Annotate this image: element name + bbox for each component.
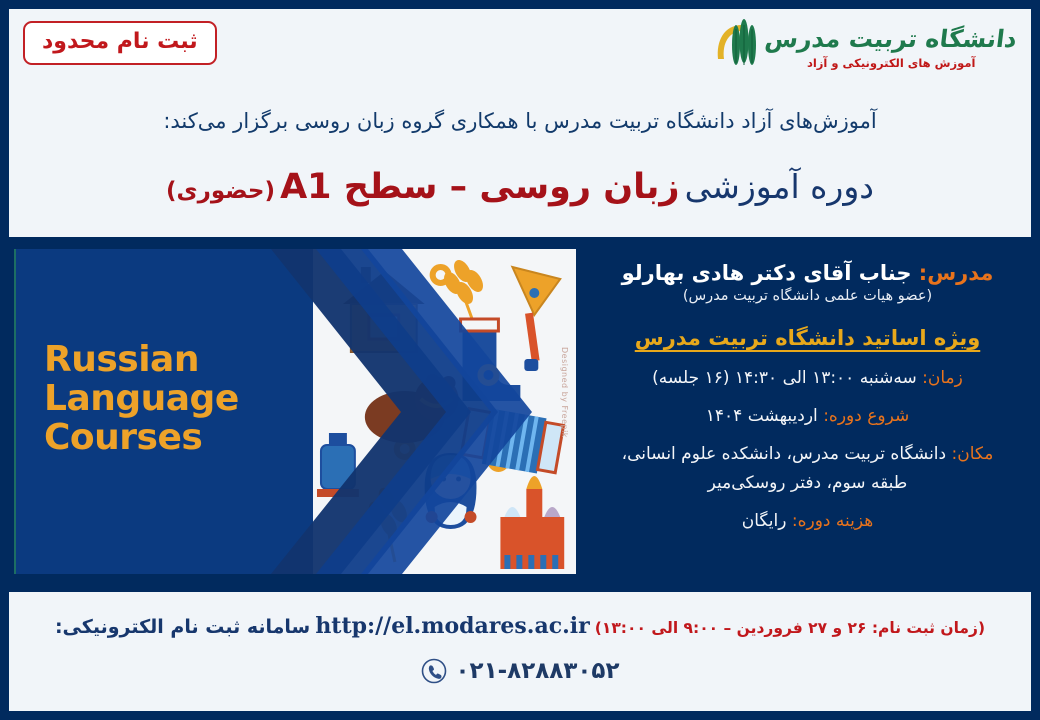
instructor-label: مدرس: (919, 261, 994, 285)
phone-number: ۰۲۱-۸۲۸۸۳۰۵۲ (456, 658, 620, 684)
matryoshka-icon (424, 453, 476, 529)
wheat-emblem-icon (712, 19, 758, 77)
artwork-title-line1: Russian (44, 341, 576, 380)
content-band: Designed by Freepik Russian Language Cou… (9, 237, 1031, 592)
detail-row: زمان: سه‌شنبه ۱۳:۰۰ الی ۱۴:۳۰ (۱۶ جلسه) (584, 368, 1031, 388)
detail-value: سه‌شنبه ۱۳:۰۰ الی ۱۴:۳۰ (۱۶ جلسه) (652, 368, 917, 388)
registration-time-note: (زمان ثبت نام: ۲۶ و ۲۷ فروردین – ۹:۰۰ ال… (595, 619, 985, 637)
poster-header: ثبت نام محدود دانشگاه تربیت مدرس آموزش ه… (9, 9, 1031, 237)
detail-value: رایگان (742, 511, 787, 531)
detail-value: دانشگاه تربیت مدرس، دانشکده علوم انسانی، (622, 444, 947, 464)
detail-row: طبقه سوم، دفتر روسکی‌میر (584, 473, 1031, 493)
page-title: دوره آموزشی زبان روسی – سطح A1 (حضوری) (9, 167, 1031, 207)
artwork-title-line2: Language (44, 380, 576, 419)
instructor-line: مدرس: جناب آقای دکتر هادی بهارلو (584, 261, 1031, 285)
phone-handset-icon (421, 658, 447, 684)
artwork-title-line3: Courses (44, 419, 576, 458)
logo-subtitle: آموزش های الکترونیکی و آزاد (765, 56, 1017, 70)
artwork-title: Russian Language Courses (16, 341, 576, 458)
poster-footer: (زمان ثبت نام: ۲۶ و ۲۷ فروردین – ۹:۰۰ ال… (9, 592, 1031, 702)
detail-row: شروع دوره: اردیبهشت ۱۴۰۴ (584, 406, 1031, 426)
title-main: زبان روسی – سطح A1 (280, 167, 679, 207)
instructor-affiliation: (عضو هیات علمی دانشگاه تربیت مدرس) (584, 288, 1031, 304)
registration-system-label: سامانه ثبت نام الکترونیکی: (55, 616, 310, 638)
detail-value: اردیبهشت ۱۴۰۴ (706, 406, 818, 426)
detail-row: هزینه دوره: رایگان (584, 511, 1031, 531)
detail-label: مکان: (952, 444, 994, 464)
special-audience-note: ویژه اساتید دانشگاه تربیت مدرس (584, 326, 1031, 350)
limited-registration-badge: ثبت نام محدود (23, 21, 217, 65)
detail-label: هزینه دوره: (792, 511, 873, 531)
title-prefix: دوره آموزشی (685, 167, 874, 206)
university-logo: دانشگاه تربیت مدرس آموزش های الکترونیکی … (712, 19, 1017, 77)
logo-text-block: دانشگاه تربیت مدرس آموزش های الکترونیکی … (765, 26, 1017, 70)
detail-value: طبقه سوم، دفتر روسکی‌میر (708, 473, 908, 493)
instructor-name: جناب آقای دکتر هادی بهارلو (622, 261, 912, 285)
registration-url[interactable]: http://el.modares.ac.ir (315, 613, 589, 639)
registration-line: (زمان ثبت نام: ۲۶ و ۲۷ فروردین – ۹:۰۰ ال… (9, 613, 1031, 639)
intro-line: آموزش‌های آزاد دانشگاه تربیت مدرس با همک… (9, 109, 1031, 133)
course-artwork: Designed by Freepik Russian Language Cou… (14, 249, 576, 574)
poster-root: ثبت نام محدود دانشگاه تربیت مدرس آموزش ه… (0, 0, 1040, 720)
logo-university-name: دانشگاه تربیت مدرس (764, 26, 1019, 54)
detail-row: مکان: دانشگاه تربیت مدرس، دانشکده علوم ا… (584, 444, 1031, 464)
detail-label: شروع دوره: (823, 406, 909, 426)
course-details: مدرس: جناب آقای دکتر هادی بهارلو (عضو هی… (584, 247, 1031, 586)
detail-label: زمان: (922, 368, 963, 388)
contact-phone: ۰۲۱-۸۲۸۸۳۰۵۲ (9, 658, 1031, 684)
title-suffix: (حضوری) (166, 178, 275, 204)
